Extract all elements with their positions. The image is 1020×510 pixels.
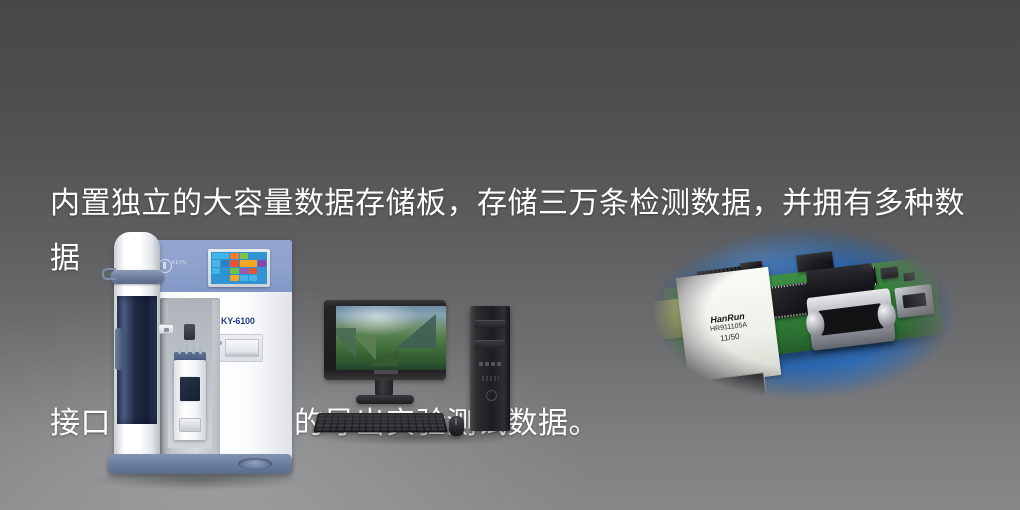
keyboard-key[interactable] <box>340 415 346 417</box>
keyboard-key[interactable] <box>353 415 359 417</box>
keyboard-key[interactable] <box>367 415 373 417</box>
reagent-column-collar <box>110 270 164 284</box>
keyboard-key[interactable] <box>381 418 387 420</box>
screen-tile[interactable] <box>249 253 266 259</box>
keyboard-key[interactable] <box>395 415 401 417</box>
keyboard-key[interactable] <box>324 421 330 423</box>
instrument-printer-slot[interactable] <box>213 334 263 362</box>
screen-tile[interactable] <box>221 268 229 274</box>
keyboard-key[interactable] <box>402 421 408 423</box>
monitor-stand-neck <box>375 380 393 396</box>
keyboard-key[interactable] <box>437 421 444 423</box>
keyboard-key[interactable] <box>339 418 345 420</box>
screen-tile[interactable] <box>212 275 229 281</box>
screen-tile[interactable] <box>230 253 238 259</box>
sample-holder-foot <box>179 418 201 432</box>
screen-tile[interactable] <box>240 275 248 281</box>
pcb-photo-clip: HanRun HR911105A 11/50 <box>648 226 958 401</box>
keyboard-key[interactable] <box>436 415 442 417</box>
tower-led-row <box>479 362 501 366</box>
screen-tile[interactable] <box>212 253 229 259</box>
db9-serial-connector <box>806 288 895 350</box>
instrument-touchscreen[interactable] <box>211 252 267 284</box>
keyboard-key[interactable] <box>395 421 401 423</box>
reagent-column-clip <box>115 328 122 370</box>
pc-tower-case <box>470 306 510 431</box>
keyboard-key[interactable] <box>319 415 325 417</box>
monitor-brand-badge <box>374 370 398 374</box>
keyboard-key[interactable] <box>429 415 435 417</box>
wallpaper-peak-shape <box>396 314 436 348</box>
keyboard-key[interactable] <box>346 421 352 423</box>
keyboard-key[interactable] <box>416 418 422 420</box>
screen-tile[interactable] <box>230 268 238 274</box>
keyboard-key[interactable] <box>317 421 324 423</box>
keyboard-key[interactable] <box>395 418 401 420</box>
keyboard-key[interactable] <box>436 418 442 420</box>
screen-tile[interactable] <box>221 260 229 266</box>
keyboard-key[interactable] <box>422 418 428 420</box>
keyboard-key[interactable] <box>367 418 373 420</box>
keyboard-key[interactable] <box>316 428 323 430</box>
keyboard-key[interactable] <box>408 415 414 417</box>
keyboard-key[interactable] <box>429 418 435 420</box>
mouse[interactable] <box>449 416 464 436</box>
screen-tile[interactable] <box>240 260 257 266</box>
instrument-photo-ky6100: KEYU KY-6100 <box>100 232 292 482</box>
monitor <box>324 300 446 380</box>
ethernet-rj45-module: HanRun HR911105A 11/50 <box>676 266 782 385</box>
keyboard-key[interactable] <box>431 428 438 430</box>
screen-tile[interactable] <box>230 275 238 281</box>
keyboard-row <box>319 415 442 417</box>
tower-optical-drive-bay[interactable] <box>475 320 505 328</box>
keyboard-key[interactable] <box>415 415 421 417</box>
keyboard-key[interactable] <box>353 418 359 420</box>
keyboard-key[interactable] <box>403 428 409 430</box>
keyboard-key[interactable] <box>381 421 387 423</box>
keyboard-key[interactable] <box>333 415 339 417</box>
keyboard-key[interactable] <box>431 424 438 426</box>
keyboard-key[interactable] <box>330 428 337 430</box>
keyboard-key[interactable] <box>332 421 338 423</box>
wallpaper-peak-shape <box>368 350 398 366</box>
instrument-touchscreen-bezel <box>208 249 270 287</box>
keyboard-key[interactable] <box>324 424 331 426</box>
product-feature-banner: 内置独立的大容量数据存储板，存储三万条检测数据，并拥有多种数据 接口，能够很方便… <box>0 0 1020 510</box>
usb-connector <box>894 283 935 317</box>
keyboard-row <box>317 421 443 423</box>
ethernet-module-label: HanRun HR911105A 11/50 <box>676 266 782 385</box>
monitor-stand-base <box>356 395 414 404</box>
keyboard-key[interactable] <box>388 421 394 423</box>
keyboard-key[interactable] <box>395 428 401 430</box>
screen-tile[interactable] <box>240 268 248 274</box>
computer-ground-shadow <box>312 431 522 445</box>
brand-logo-text: KEYU <box>172 260 187 266</box>
keyboard-key[interactable] <box>409 421 415 423</box>
keyboard-key[interactable] <box>360 415 366 417</box>
keyboard-key[interactable] <box>367 424 373 426</box>
power-button-icon[interactable] <box>486 390 497 401</box>
reagent-column-glass <box>117 296 157 424</box>
screen-tile[interactable] <box>212 260 220 266</box>
keyboard-key[interactable] <box>374 421 380 423</box>
keyboard-key[interactable] <box>317 424 324 426</box>
keyboard-key[interactable] <box>374 424 380 426</box>
holder-pin-icon <box>185 346 188 354</box>
keyboard-key[interactable] <box>409 418 415 420</box>
keyboard-row <box>318 418 443 420</box>
keyboard-key[interactable] <box>401 415 407 417</box>
keyboard-key[interactable] <box>423 421 429 423</box>
keyboard-key[interactable] <box>332 418 338 420</box>
keyboard-key[interactable] <box>381 428 387 430</box>
keyboard-key[interactable] <box>438 424 445 426</box>
reagent-column-hook-icon <box>102 268 116 280</box>
keyboard-key[interactable] <box>416 424 422 426</box>
wallpaper-peak-shape <box>336 328 356 358</box>
screen-tile[interactable] <box>249 268 257 274</box>
keyboard-key[interactable] <box>325 418 331 420</box>
keyboard-key[interactable] <box>331 424 338 426</box>
tower-drive-bay[interactable] <box>475 340 505 348</box>
keyboard-key[interactable] <box>323 428 330 430</box>
keyboard-key[interactable] <box>360 418 366 420</box>
keyboard-key[interactable] <box>388 415 394 417</box>
keyboard-key[interactable] <box>346 418 352 420</box>
holder-pin-icon <box>178 346 181 354</box>
holder-pin-icon <box>199 346 202 354</box>
keyboard-row <box>316 428 446 430</box>
keyboard-key[interactable] <box>360 424 366 426</box>
model-number: KY-6100 <box>221 316 255 326</box>
keyboard-key[interactable] <box>388 424 394 426</box>
keyboard-key[interactable] <box>360 421 366 423</box>
instrument-valve-switch[interactable] <box>158 324 174 334</box>
keyboard-key[interactable] <box>339 421 345 423</box>
smd-component <box>903 272 915 281</box>
keyboard-key[interactable] <box>374 428 380 430</box>
keyboard-key[interactable] <box>347 415 353 417</box>
keyboard-key[interactable] <box>424 428 431 430</box>
tower-vent-grill <box>482 376 499 381</box>
keyboard-key[interactable] <box>338 428 345 430</box>
screen-tile[interactable] <box>249 275 257 281</box>
instrument-model-label: KY-6100 <box>215 316 255 326</box>
desktop-computer-photo <box>318 300 533 445</box>
keyboard-key[interactable] <box>417 428 424 430</box>
keyboard-key[interactable] <box>338 424 344 426</box>
ic-chip <box>880 266 898 279</box>
keyboard-key[interactable] <box>352 428 358 430</box>
ethernet-code: 11/50 <box>720 331 740 342</box>
keyboard-key[interactable] <box>353 421 359 423</box>
keyboard-key[interactable] <box>416 421 422 423</box>
keyboard-key[interactable] <box>402 424 408 426</box>
screen-tile[interactable] <box>212 268 220 274</box>
keyboard-key[interactable] <box>430 421 436 423</box>
sample-holder-window <box>179 376 201 402</box>
keyboard-key[interactable] <box>367 428 373 430</box>
keyboard-key[interactable] <box>402 418 408 420</box>
keyboard-row <box>317 424 445 426</box>
base-tray-drain-well <box>238 458 272 470</box>
screen-tile[interactable] <box>258 260 266 266</box>
keyboard-key[interactable] <box>359 428 365 430</box>
keyboard-key[interactable] <box>326 415 332 417</box>
keyboard-key[interactable] <box>352 424 358 426</box>
keyboard-key[interactable] <box>381 415 387 417</box>
holder-pin-icon <box>192 346 195 354</box>
pcb-photo-oval: HanRun HR911105A 11/50 <box>648 226 958 401</box>
keyboard[interactable] <box>313 413 448 432</box>
keyboard-key[interactable] <box>374 418 380 420</box>
keyboard-key[interactable] <box>345 428 351 430</box>
keyboard-key[interactable] <box>345 424 351 426</box>
instrument-sensor-head <box>184 324 195 340</box>
keyboard-key[interactable] <box>410 428 416 430</box>
keyboard-key[interactable] <box>439 428 446 430</box>
keyboard-key[interactable] <box>367 421 373 423</box>
monitor-screen-wallpaper <box>336 306 446 370</box>
keyboard-key[interactable] <box>318 418 324 420</box>
instrument-brand-logo: KEYU <box>158 258 198 274</box>
keyboard-key[interactable] <box>422 415 428 417</box>
keyboard-key[interactable] <box>409 424 415 426</box>
printer-paper-slot <box>225 339 259 357</box>
keyboard-key[interactable] <box>424 424 431 426</box>
screen-tile[interactable] <box>230 260 238 266</box>
keyboard-key[interactable] <box>374 415 380 417</box>
screen-tile[interactable] <box>240 253 248 259</box>
keyboard-key[interactable] <box>388 428 394 430</box>
keyboard-key[interactable] <box>381 424 387 426</box>
keyboard-key[interactable] <box>395 424 401 426</box>
keyboard-key[interactable] <box>388 418 394 420</box>
